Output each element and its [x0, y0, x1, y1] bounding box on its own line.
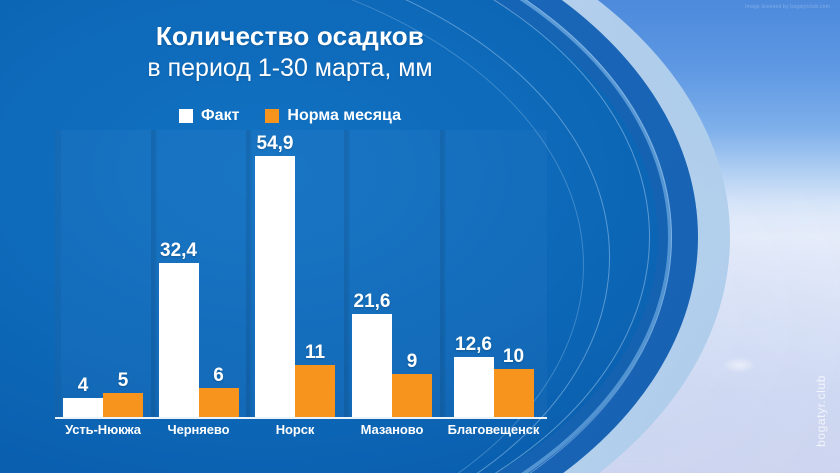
infographic-slide: Количество осадков в период 1-30 марта, …	[0, 0, 840, 473]
bar-fact[interactable]: 32,4	[159, 130, 199, 417]
bar-value-label: 9	[407, 352, 418, 371]
bar-holder: 4	[63, 398, 103, 417]
bar-holder: 6	[199, 388, 239, 417]
bar-holder: 32,4	[159, 263, 199, 417]
bar-value-label: 6	[213, 366, 224, 385]
x-axis-labels: Усть-НюкжаЧерняевоНорскМазановоБлаговеще…	[55, 422, 547, 437]
bar-norma[interactable]: 5	[103, 130, 143, 417]
category-label: Норск	[246, 422, 344, 437]
bar-rect[interactable]	[159, 263, 199, 417]
bar-holder: 10	[494, 369, 534, 417]
category-label: Благовещенск	[440, 422, 547, 437]
bar-value-label: 10	[503, 347, 524, 366]
bar-rect[interactable]	[295, 365, 335, 417]
bar-value-label: 54,9	[257, 134, 294, 153]
bar-holder: 12,6	[454, 357, 494, 417]
bar-holder: 11	[295, 365, 335, 417]
chart-legend: ФактНорма месяца	[0, 107, 580, 125]
bar-value-label: 21,6	[354, 292, 391, 311]
bar-norma[interactable]: 11	[295, 130, 335, 417]
bar-rect[interactable]	[454, 357, 494, 417]
chart-category-group: 45	[55, 130, 151, 417]
page-title: Количество осадков	[0, 22, 580, 51]
chart-category-group: 54,911	[246, 130, 344, 417]
page-subtitle: в период 1-30 марта, мм	[0, 53, 580, 83]
image-credit: Image licensed by bogatyrclub.com	[745, 4, 830, 10]
bar-fact[interactable]: 12,6	[454, 130, 494, 417]
bar-rect[interactable]	[63, 398, 103, 417]
chart-plot-area: 4532,4654,91121,6912,610	[55, 130, 547, 417]
bar-value-label: 4	[78, 376, 89, 395]
bar-rect[interactable]	[352, 314, 392, 417]
category-label: Черняево	[151, 422, 246, 437]
chart-category-group: 32,46	[151, 130, 246, 417]
legend-item-label: Норма месяца	[287, 107, 401, 125]
bar-holder: 9	[392, 374, 432, 417]
watermark: bogatyr.club	[814, 375, 828, 447]
bar-rect[interactable]	[392, 374, 432, 417]
bar-fact[interactable]: 21,6	[352, 130, 392, 417]
chart-category-group: 21,69	[344, 130, 440, 417]
category-label: Усть-Нюкжа	[55, 422, 151, 437]
bar-holder: 5	[103, 393, 143, 417]
bar-value-label: 12,6	[455, 335, 492, 354]
bar-rect[interactable]	[103, 393, 143, 417]
chart-category-group: 12,610	[440, 130, 547, 417]
category-label: Мазаново	[344, 422, 440, 437]
bar-value-label: 32,4	[160, 241, 197, 260]
bar-fact[interactable]: 54,9	[255, 130, 295, 417]
bar-rect[interactable]	[494, 369, 534, 417]
bar-fact[interactable]: 4	[63, 130, 103, 417]
x-axis-line	[55, 417, 547, 419]
white-square-icon	[179, 109, 193, 123]
bar-value-label: 11	[305, 343, 325, 362]
bar-norma[interactable]: 10	[494, 130, 534, 417]
bar-norma[interactable]: 6	[199, 130, 239, 417]
bar-rect[interactable]	[199, 388, 239, 417]
bar-chart: 4532,4654,91121,6912,610 Усть-НюкжаЧерня…	[55, 130, 547, 445]
bar-holder: 21,6	[352, 314, 392, 417]
bar-norma[interactable]: 9	[392, 130, 432, 417]
orange-square-icon	[265, 109, 279, 123]
bar-holder: 54,9	[255, 156, 295, 417]
legend-item[interactable]: Факт	[179, 107, 239, 125]
bar-value-label: 5	[118, 371, 129, 390]
bar-rect[interactable]	[255, 156, 295, 417]
legend-item[interactable]: Норма месяца	[265, 107, 401, 125]
legend-item-label: Факт	[201, 107, 239, 125]
chart-header: Количество осадков в период 1-30 марта, …	[0, 22, 580, 83]
